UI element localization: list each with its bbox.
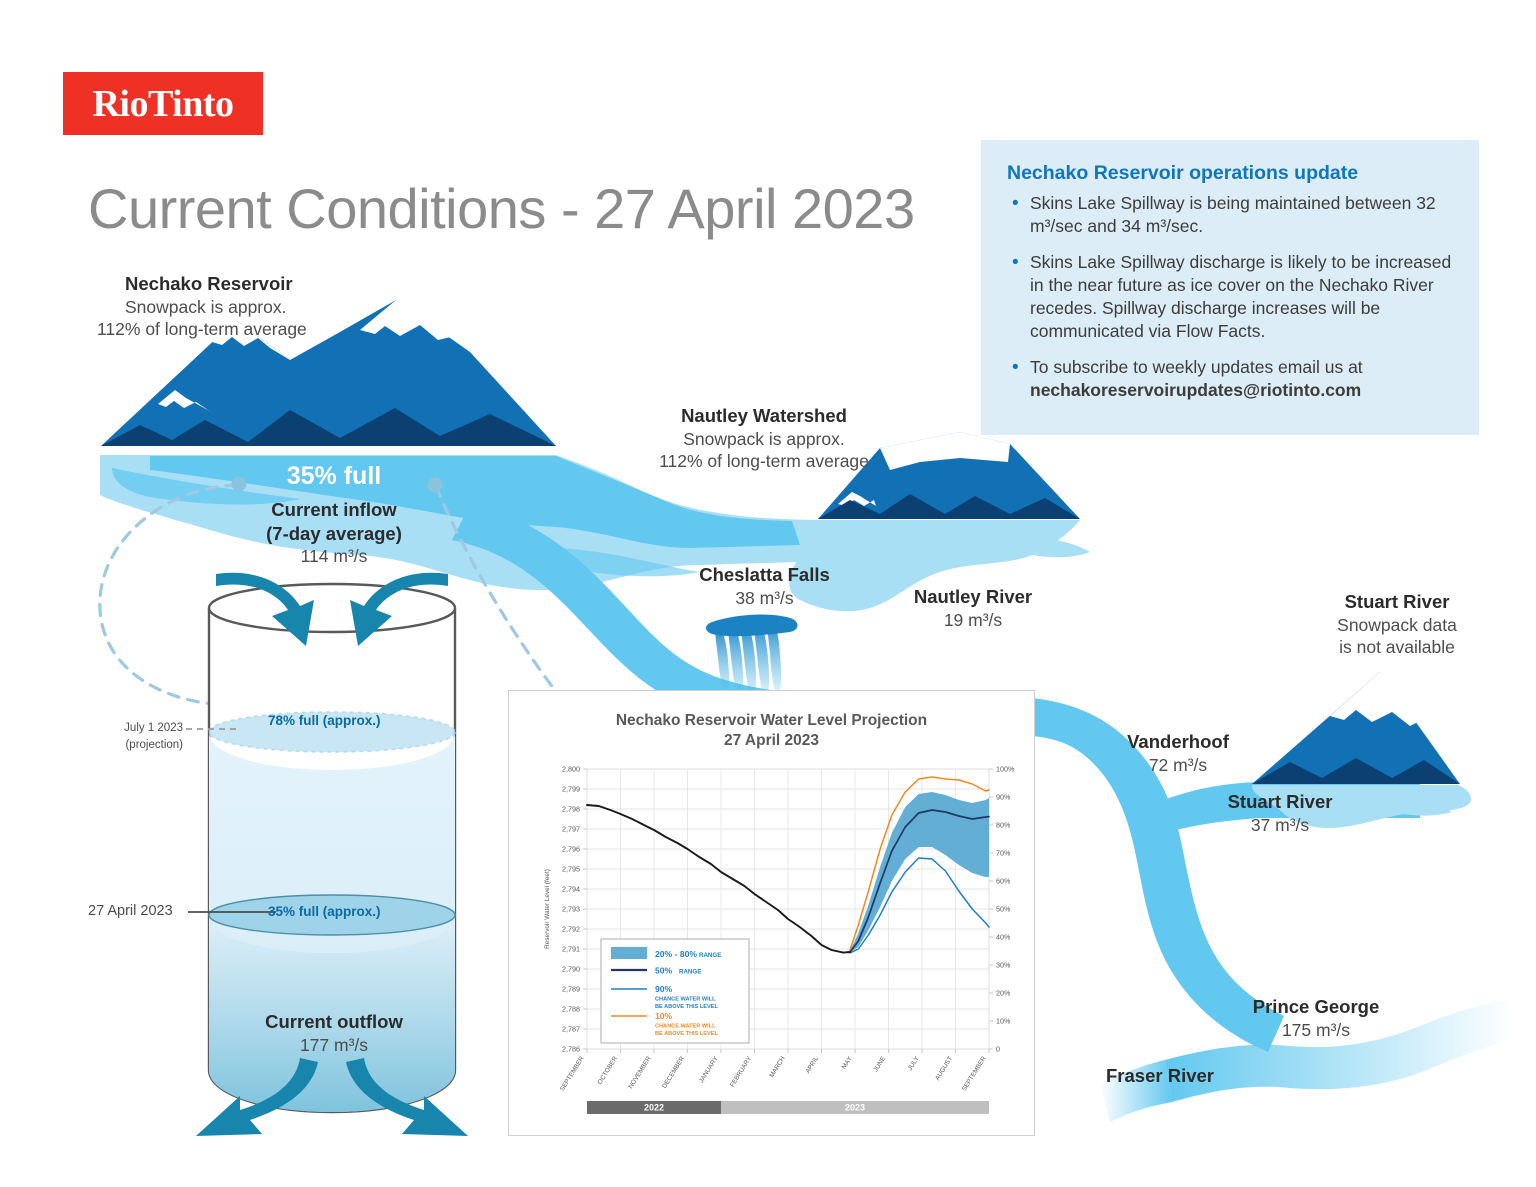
callout-fraser-river: Fraser River — [1106, 1064, 1214, 1088]
x-tick-label: NOVEMBER — [627, 1055, 653, 1090]
callout-nautley-river: Nautley River 19 m³/s — [888, 585, 1058, 631]
y-tick-label: 2,799 — [562, 785, 580, 794]
y2-tick-label: 70% — [996, 849, 1011, 858]
year-band-label: 2023 — [845, 1103, 865, 1113]
x-tick-label: SEPTEMBER — [961, 1055, 988, 1092]
callout-value: 38 m³/s — [672, 587, 857, 609]
subscribe-email[interactable]: nechakoreservoirupdates@riotinto.com — [1030, 380, 1361, 400]
y-tick-label: 2,786 — [562, 1045, 580, 1054]
callout-title: Current inflow — [234, 498, 434, 522]
tank-projection-date: July 1 2023 (projection) — [121, 719, 183, 754]
callout-title: Cheslatta Falls — [672, 563, 857, 587]
legend-label-90: 90% — [655, 984, 673, 994]
y-tick-label: 2,793 — [562, 905, 580, 914]
callout-line-1: Snowpack data — [1302, 614, 1492, 636]
x-tick-label: OCTOBER — [597, 1055, 620, 1086]
callout-title: Nautley River — [888, 585, 1058, 609]
callout-title: Current outflow — [234, 1010, 434, 1034]
callout-value: 37 m³/s — [1196, 814, 1364, 836]
x-tick-label: MAY — [841, 1055, 854, 1071]
callout-current-outflow: Current outflow 177 m³/s — [234, 1010, 434, 1056]
legend-suffix-band: RANGE — [699, 952, 721, 959]
tank-current-level: 35% full (approx.) — [268, 904, 381, 919]
legend-label-50: 50% — [655, 966, 673, 976]
callout-title: Prince George — [1226, 995, 1406, 1019]
callout-title: Nechako Reservoir — [97, 272, 307, 296]
legend-label-band: 20% - 80% — [655, 949, 697, 959]
y2-tick-label: 20% — [996, 989, 1011, 998]
chart-svg: 2,8002,7992,7982,7972,7962,7952,7942,793… — [509, 691, 1036, 1137]
y2-tick-label: 30% — [996, 961, 1011, 970]
legend-suffix-10-line2: BE ABOVE THIS LEVEL — [655, 1031, 718, 1037]
x-tick-label: FEBRUARY — [729, 1055, 754, 1089]
legend-suffix-10-line1: CHANCE WATER WILL — [655, 1024, 716, 1030]
operations-update-panel: Nechako Reservoir operations update Skin… — [981, 140, 1479, 435]
x-tick-label: APRIL — [804, 1055, 820, 1075]
logo-text: RioTinto — [92, 82, 233, 126]
operations-update-list: Skins Lake Spillway is being maintained … — [1007, 192, 1453, 402]
x-tick-label: JANUARY — [698, 1055, 720, 1085]
callout-line-2: 112% of long-term average — [97, 318, 307, 340]
callout-title: Nautley Watershed — [660, 404, 868, 428]
callout-line-1: Snowpack is approx. — [97, 296, 307, 318]
y2-tick-label: 50% — [996, 905, 1011, 914]
callout-value: 19 m³/s — [888, 609, 1058, 631]
y2-tick-label: 40% — [996, 933, 1011, 942]
callout-current-inflow: Current inflow (7-day average) 114 m³/s — [234, 498, 434, 568]
legend-suffix-90-line1: CHANCE WATER WILL — [655, 997, 716, 1003]
y-tick-label: 2,792 — [562, 925, 580, 934]
callout-title: Fraser River — [1106, 1064, 1214, 1088]
tank-projection-note: (projection) — [125, 739, 183, 751]
callout-nautley-watershed: Nautley Watershed Snowpack is approx. 11… — [660, 404, 868, 472]
subscribe-text: To subscribe to weekly updates email us … — [1030, 357, 1363, 377]
callout-stuart-river: Stuart River 37 m³/s — [1196, 790, 1364, 836]
operations-update-title: Nechako Reservoir operations update — [1007, 162, 1453, 185]
callout-subtitle: (7-day average) — [234, 522, 434, 546]
y2-tick-label: 0 — [996, 1045, 1000, 1054]
tank-projection-level: 78% full (approx.) — [268, 713, 381, 728]
tank-current-date: 27 April 2023 — [88, 903, 173, 920]
x-tick-label: SEPTEMBER — [559, 1055, 586, 1092]
water-level-projection-chart: Nechako Reservoir Water Level Projection… — [508, 690, 1035, 1136]
callout-title: Stuart River — [1196, 790, 1364, 814]
y-tick-label: 2,791 — [562, 945, 580, 954]
x-tick-label: DECEMBER — [661, 1055, 686, 1090]
x-tick-label: JUNE — [872, 1055, 887, 1073]
callout-line-1: Snowpack is approx. — [660, 428, 868, 450]
callout-value: 114 m³/s — [234, 545, 434, 567]
y2-tick-label: 80% — [996, 821, 1011, 830]
callout-vanderhoof: Vanderhoof 72 m³/s — [1098, 730, 1258, 776]
reservoir-percent-full-overlay: 35% full — [234, 462, 434, 491]
y-tick-label: 2,796 — [562, 845, 580, 854]
y2-tick-label: 90% — [996, 793, 1011, 802]
tank-projection-date-text: July 1 2023 — [124, 722, 183, 734]
x-tick-label: AUGUST — [934, 1055, 954, 1081]
y-tick-label: 2,800 — [562, 765, 580, 774]
callout-stuart-snowpack: Stuart River Snowpack data is not availa… — [1302, 590, 1492, 658]
legend-label-10: 10% — [655, 1011, 673, 1021]
callout-value: 72 m³/s — [1098, 754, 1258, 776]
list-item: To subscribe to weekly updates email us … — [1007, 356, 1453, 403]
y-tick-label: 2,795 — [562, 865, 580, 874]
y-tick-label: 2,794 — [562, 885, 580, 894]
x-tick-label: MARCH — [768, 1055, 787, 1079]
y-tick-label: 2,797 — [562, 825, 580, 834]
callout-cheslatta-falls: Cheslatta Falls 38 m³/s — [672, 563, 857, 609]
year-band-label: 2022 — [644, 1103, 664, 1113]
y-tick-label: 2,798 — [562, 805, 580, 814]
chart-plot-area: 2,8002,7992,7982,7972,7962,7952,7942,793… — [509, 691, 1036, 1137]
y-axis-title: Reservoir Water Level (feet) — [544, 869, 551, 949]
callout-line-2: is not available — [1302, 636, 1492, 658]
callout-title: Stuart River — [1302, 590, 1492, 614]
legend-suffix-90-line2: BE ABOVE THIS LEVEL — [655, 1004, 718, 1010]
stuart-mountain-icon — [1252, 672, 1460, 784]
callout-value: 175 m³/s — [1226, 1019, 1406, 1041]
x-tick-label: JULY — [907, 1055, 921, 1072]
infographic-canvas: RioTinto Current Conditions - 27 April 2… — [0, 0, 1536, 1187]
rio-tinto-logo: RioTinto — [63, 72, 263, 135]
callout-title: Vanderhoof — [1098, 730, 1258, 754]
y-tick-label: 2,787 — [562, 1025, 580, 1034]
callout-prince-george: Prince George 175 m³/s — [1226, 995, 1406, 1041]
list-item: Skins Lake Spillway discharge is likely … — [1007, 251, 1453, 344]
y2-tick-label: 10% — [996, 1017, 1011, 1026]
y2-tick-label: 60% — [996, 877, 1011, 886]
page-title: Current Conditions - 27 April 2023 — [88, 176, 915, 241]
y-tick-label: 2,789 — [562, 985, 580, 994]
y-tick-label: 2,788 — [562, 1005, 580, 1014]
y-tick-label: 2,790 — [562, 965, 580, 974]
list-item: Skins Lake Spillway is being maintained … — [1007, 192, 1453, 239]
y2-tick-label: 100% — [996, 765, 1015, 774]
callout-value: 177 m³/s — [234, 1034, 434, 1056]
callout-nechako-reservoir: Nechako Reservoir Snowpack is approx. 11… — [97, 272, 307, 340]
legend-suffix-50: RANGE — [679, 969, 701, 976]
callout-line-2: 112% of long-term average — [655, 450, 873, 472]
legend-swatch-band — [611, 947, 647, 959]
